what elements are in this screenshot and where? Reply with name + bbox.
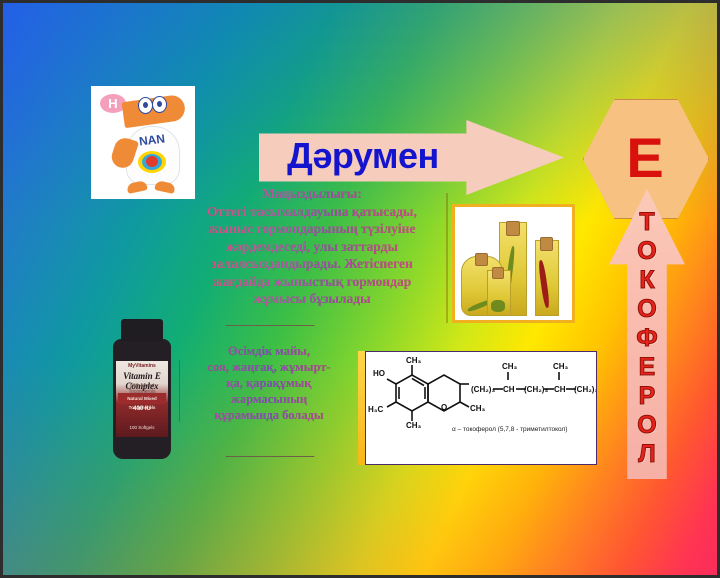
sources-line: құрамында болады	[179, 407, 359, 423]
tokoferol-letter: Е	[639, 353, 656, 381]
bottle-cap-icon	[121, 319, 163, 341]
vitamin-e-letter: E	[583, 123, 707, 193]
importance-line: залалсыздандырады. Жетіспеген	[166, 255, 458, 273]
svg-text:(CH₂)₃: (CH₂)₃	[471, 385, 495, 394]
svg-text:(CH₂)₃: (CH₂)₃	[524, 385, 548, 394]
oil-cork-small-icon	[492, 267, 504, 279]
sources-line: Өсімдік майы,	[179, 343, 359, 359]
svg-text:CH₃: CH₃	[553, 362, 569, 371]
tokoferol-letter: Р	[639, 382, 656, 410]
tokoferol-letter: О	[637, 411, 656, 439]
tokoferol-letter: О	[637, 237, 656, 265]
svg-text:(CH₂)₃: (CH₂)₃	[574, 385, 596, 394]
sources-line: соя, жаңғақ, жұмырт-	[179, 359, 359, 375]
svg-text:CH₃: CH₃	[406, 421, 422, 430]
tocopherol-formula-image: HO H₃C CH₃ CH₃ O CH₃ (CH₂)₃ CH CH₃ (CH₂)…	[365, 351, 597, 465]
bottle-brand: MyVitamins	[116, 363, 168, 369]
importance-line: жұмысы бұзылады	[166, 290, 458, 308]
mascot-foot-left-icon	[126, 180, 148, 194]
bottle-strength: 400 IU	[116, 406, 168, 413]
vertical-divider	[446, 193, 448, 323]
importance-line: жәрдемдеседі, улы заттарды	[166, 238, 458, 256]
svg-text:CH₃: CH₃	[502, 362, 518, 371]
tokoferol-vertical-word: Т О К О Ф Е Р О Л	[609, 208, 685, 473]
svg-text:CH: CH	[503, 385, 515, 394]
tocopherol-formula-caption: α – токоферол (5,7,8 - триметилтокол)	[452, 426, 602, 434]
darumen-title: Дәрумен	[259, 133, 467, 179]
svg-text:HO: HO	[373, 369, 385, 378]
sources-line: қа, қарақұмық	[179, 375, 359, 391]
mascot-pupil-left-icon	[143, 102, 148, 108]
nan-mascot-image: Н NAN	[91, 86, 195, 199]
svg-text:CH: CH	[554, 385, 566, 394]
svg-text:CH₃: CH₃	[406, 356, 422, 365]
tokoferol-letter: Л	[638, 440, 656, 468]
svg-text:O: O	[441, 403, 447, 412]
oil-cork-tall-icon	[506, 221, 520, 236]
importance-line: Оттегі тасымалдауына қатысады,	[166, 203, 458, 221]
tokoferol-letter: Т	[639, 208, 654, 236]
sources-line: жармасының	[179, 391, 359, 407]
oil-parsley-icon	[491, 300, 505, 312]
importance-line: жыныс гормондарының түзілуіне	[166, 220, 458, 238]
tokoferol-letter: Ф	[636, 324, 657, 352]
importance-text-block: Маңыздылығы: Оттегі тасымалдауына қатыса…	[166, 185, 458, 311]
tokoferol-letter: О	[637, 295, 656, 323]
mascot-pupil-right-icon	[157, 101, 162, 107]
tokoferol-letter: К	[639, 266, 654, 294]
presentation-slide: Н NAN Дәрумен E Т О К О Ф Е Р О Л Маңызд…	[0, 0, 720, 578]
oil-bottles-image	[452, 204, 575, 323]
oil-cork-slim-icon	[540, 237, 553, 251]
mascot-logo-ring-inner-icon	[146, 156, 158, 167]
svg-text:CH₃: CH₃	[470, 404, 486, 413]
vitamin-bottle-image: MyVitamins Vitamin E Complex With Mixed …	[107, 319, 177, 461]
importance-line: Маңыздылығы:	[166, 185, 458, 203]
importance-line: жағдайда жыныстық гормондар	[166, 273, 458, 291]
svg-text:H₃C: H₃C	[368, 405, 383, 414]
sources-text-block: Өсімдік майы, соя, жаңғақ, жұмырт- қа, қ…	[179, 343, 359, 423]
oil-cork-flask-icon	[475, 253, 488, 266]
bottle-count: 100 Softgels	[116, 425, 168, 431]
